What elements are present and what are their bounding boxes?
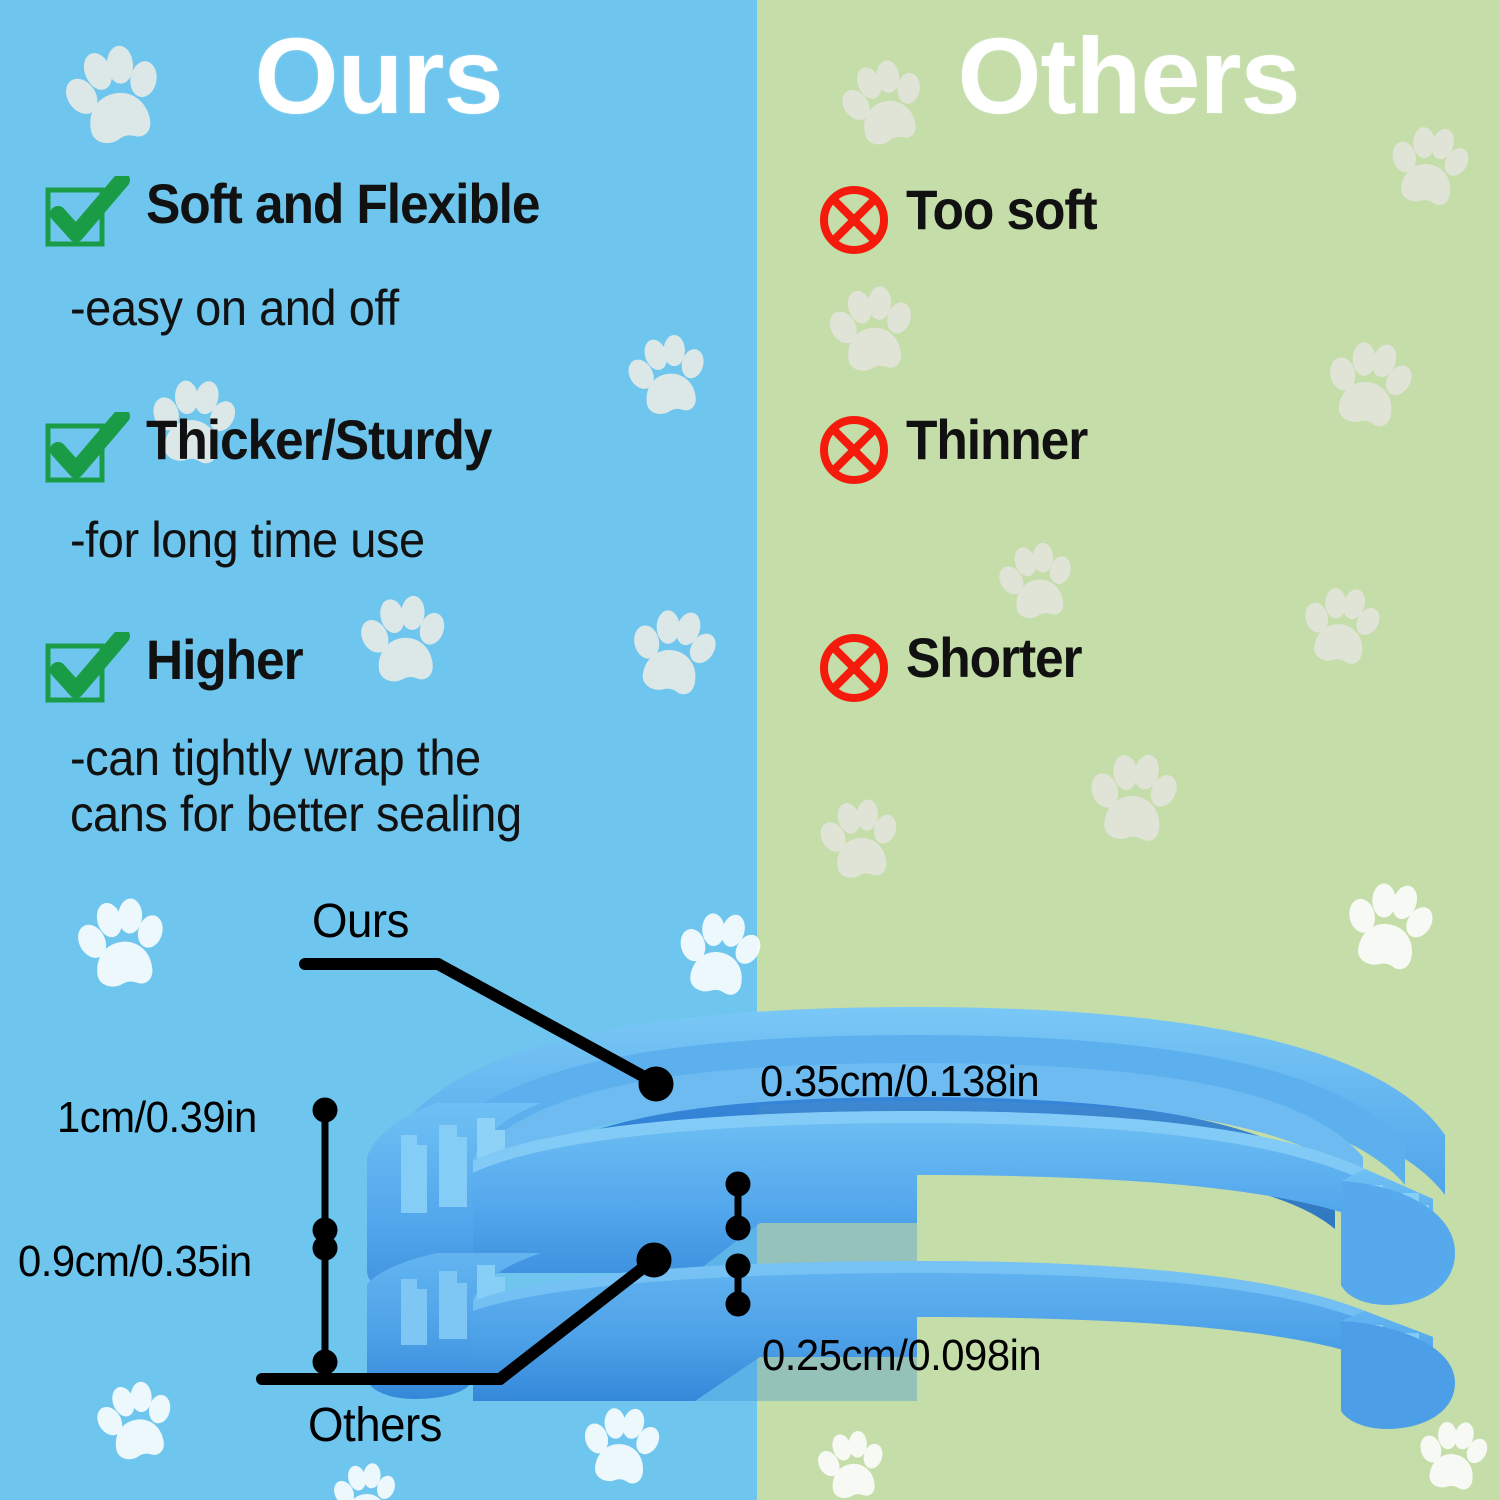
green-check-box-icon (44, 176, 130, 253)
red-circle-x-icon (818, 632, 890, 709)
paw-print-icon (1317, 329, 1420, 435)
feature-row-thicker-sturdy: Thicker/Sturdy (44, 412, 521, 489)
page-title-ours: Ours (0, 22, 757, 130)
feature-subtext: -easy on and off (70, 280, 399, 336)
paw-print-icon (354, 588, 450, 689)
paw-print-icon (813, 792, 902, 885)
feature-row-higher: Higher (44, 632, 316, 709)
paw-print-icon (329, 1458, 400, 1500)
paw-print-icon (69, 890, 171, 996)
red-circle-x-icon (818, 414, 890, 491)
feature-row-soft-and-flexible: Soft and Flexible (44, 176, 574, 253)
feature-headline: Too soft (906, 182, 1097, 238)
feature-headline: Thinner (906, 412, 1087, 468)
feature-subtext-line-2: cans for better sealing (70, 786, 522, 842)
paw-print-icon (1335, 870, 1440, 979)
dimension-label-others-height: 0.9cm/0.35in (18, 1240, 252, 1284)
feature-headline: Soft and Flexible (146, 176, 539, 232)
feature-row-thinner: Thinner (818, 412, 1103, 491)
red-circle-x-icon (818, 184, 890, 261)
paw-print-icon (87, 1372, 180, 1469)
dimension-label-ours-height: 1cm/0.39in (57, 1096, 257, 1140)
green-check-box-icon (44, 632, 130, 709)
paw-print-icon (821, 278, 918, 379)
paw-print-icon (1381, 116, 1475, 214)
green-check-box-icon (44, 412, 130, 489)
page-title-others: Others (757, 22, 1500, 130)
paw-print-icon (991, 535, 1080, 627)
feature-subtext: -for long time use (70, 512, 425, 568)
feature-headline: Shorter (906, 630, 1081, 686)
paw-print-icon (621, 597, 724, 703)
dimension-label-ours-thickness: 0.35cm/0.138in (760, 1060, 1039, 1104)
feature-subtext-line-1: -can tightly wrap the (70, 730, 522, 786)
paw-print-icon (1295, 577, 1386, 671)
feature-row-too-soft: Too soft (818, 182, 1113, 261)
comparison-infographic: Ours Others Soft and Flexible -easy on a… (0, 0, 1500, 1500)
paw-print-icon (1083, 745, 1182, 848)
feature-subtext-multiline: -can tightly wrap the cans for better se… (70, 730, 522, 842)
feature-row-shorter: Shorter (818, 630, 1097, 709)
paw-print-icon (619, 326, 712, 423)
feature-headline: Higher (146, 632, 303, 688)
callout-label-others: Others (308, 1402, 442, 1450)
product-photo-stacked-bands (305, 985, 1500, 1455)
callout-label-ours: Ours (312, 898, 409, 946)
feature-headline: Thicker/Sturdy (146, 412, 491, 468)
dimension-label-others-thickness: 0.25cm/0.098in (762, 1334, 1041, 1378)
